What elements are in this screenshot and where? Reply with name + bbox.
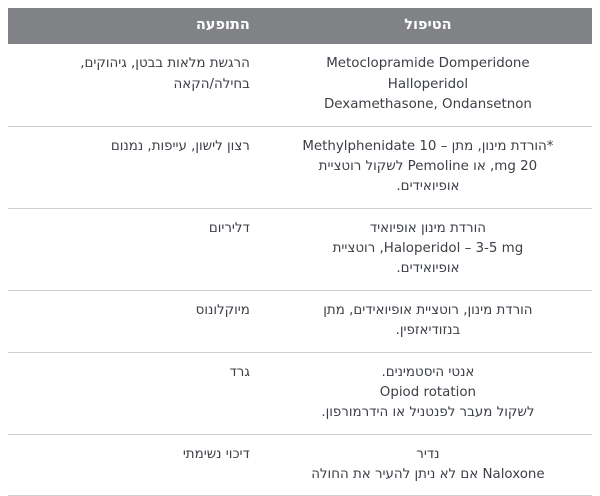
cell-symptom: גרד: [8, 352, 264, 434]
cell-symptom: רצון לישון, עייפות, נמנום: [8, 126, 264, 208]
treatment-line: לשקול מעבר לפנטניל או הידרמורפון.: [278, 403, 578, 423]
table-header-row: הטיפול התופעה: [8, 8, 592, 44]
table-row: Metoclopramide DomperidoneHalloperidolDe…: [8, 44, 592, 126]
table-row: *הורדת מינון, מתן – Methylphenidate 1020…: [8, 126, 592, 208]
treatment-line: Dexamethasone, Ondansetnon: [278, 95, 578, 115]
cell-treatment: הורדת מינון, רוטציית אופיואידים, מתןבנזו…: [264, 290, 592, 352]
table-row: הורדת מינון, רוטציית אופיואידים, מתןבנזו…: [8, 290, 592, 352]
symptom-line: הרגשת מלאות בבטן, גיהוקים,: [16, 54, 250, 74]
table-row: נדירNaloxone אם לא ניתן להעיר את החולהדי…: [8, 434, 592, 495]
table-row: הורדת מינון אופיואידHaloperidol – 3-5 mg…: [8, 208, 592, 290]
table-body: Metoclopramide DomperidoneHalloperidolDe…: [8, 44, 592, 495]
symptom-line: מיוקלונוס: [16, 301, 250, 321]
treatment-line: הורדת מינון אופיואיד: [278, 219, 578, 239]
symptom-treatment-table: הטיפול התופעה Metoclopramide Domperidone…: [8, 8, 592, 495]
symptom-line: דיכוי נשימתי: [16, 445, 250, 465]
symptom-line: בחילה/הקאה: [16, 75, 250, 95]
column-header-treatment: הטיפול: [264, 8, 592, 44]
treatment-line: Halloperidol: [278, 75, 578, 95]
table-header: הטיפול התופעה: [8, 8, 592, 44]
cell-treatment: הורדת מינון אופיואידHaloperidol – 3-5 mg…: [264, 208, 592, 290]
symptom-line: רצון לישון, עייפות, נמנום: [16, 137, 250, 157]
cell-symptom: דליריום: [8, 208, 264, 290]
treatment-line: Haloperidol – 3-5 mg, רוטציית: [278, 239, 578, 259]
treatment-line: אופיואידים.: [278, 177, 578, 197]
symptom-line: גרד: [16, 363, 250, 383]
treatment-line: Naloxone אם לא ניתן להעיר את החולה: [278, 465, 578, 485]
cell-symptom: דיכוי נשימתי: [8, 434, 264, 495]
treatment-line: Opiod rotation: [278, 383, 578, 403]
cell-symptom: מיוקלונוס: [8, 290, 264, 352]
treatment-line: נדיר: [278, 445, 578, 465]
treatment-line: אנטי היסטמינים.: [278, 363, 578, 383]
treatment-line: Metoclopramide Domperidone: [278, 54, 578, 74]
cell-treatment: Metoclopramide DomperidoneHalloperidolDe…: [264, 44, 592, 126]
cell-symptom: הרגשת מלאות בבטן, גיהוקים,בחילה/הקאה: [8, 44, 264, 126]
treatment-line: אופיואידים.: [278, 259, 578, 279]
treatment-line: הורדת מינון, רוטציית אופיואידים, מתן: [278, 301, 578, 321]
treatment-line: *הורדת מינון, מתן – Methylphenidate 10: [278, 137, 578, 157]
cell-treatment: אנטי היסטמינים.Opiod rotationלשקול מעבר …: [264, 352, 592, 434]
cell-treatment: נדירNaloxone אם לא ניתן להעיר את החולה: [264, 434, 592, 495]
symptom-line: דליריום: [16, 219, 250, 239]
cell-treatment: *הורדת מינון, מתן – Methylphenidate 1020…: [264, 126, 592, 208]
symptom-treatment-table-container: הטיפול התופעה Metoclopramide Domperidone…: [8, 8, 592, 495]
column-header-symptom: התופעה: [8, 8, 264, 44]
treatment-line: בנזודיאזפין.: [278, 321, 578, 341]
treatment-line: 20 mg, או Pemoline לשקול רוטציית: [278, 157, 578, 177]
table-row: אנטי היסטמינים.Opiod rotationלשקול מעבר …: [8, 352, 592, 434]
